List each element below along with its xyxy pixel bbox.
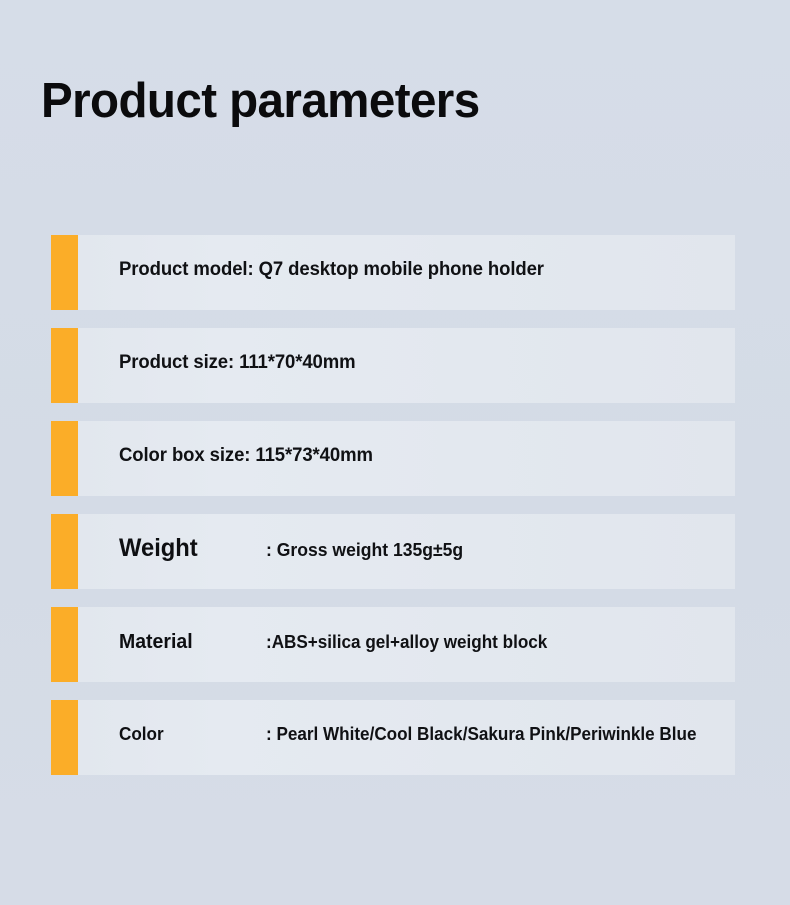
spec-value-material: :ABS+silica gel+alloy weight block <box>266 632 547 653</box>
row-accent-bar <box>51 514 78 589</box>
row-body: Product size: 111*70*40mm <box>78 328 735 403</box>
spec-text-product-model: Product model: Q7 desktop mobile phone h… <box>119 258 544 281</box>
spec-value-color: : Pearl White/Cool Black/Sakura Pink/Per… <box>266 724 696 745</box>
spec-row-material: Material :ABS+silica gel+alloy weight bl… <box>0 607 790 682</box>
spec-row-product-size: Product size: 111*70*40mm <box>0 328 790 403</box>
spec-row-color: Color : Pearl White/Cool Black/Sakura Pi… <box>0 700 790 775</box>
spec-label-color: Color <box>119 724 259 745</box>
row-accent-bar <box>51 328 78 403</box>
row-body: Weight : Gross weight 135g±5g <box>78 514 735 589</box>
spec-row-product-model: Product model: Q7 desktop mobile phone h… <box>0 235 790 310</box>
spec-list: Product model: Q7 desktop mobile phone h… <box>0 235 790 793</box>
row-accent-bar <box>51 607 78 682</box>
row-body: Material :ABS+silica gel+alloy weight bl… <box>78 607 735 682</box>
spec-text-color-box-size: Color box size: 115*73*40mm <box>119 444 373 467</box>
row-accent-bar <box>51 700 78 775</box>
spec-text-product-size: Product size: 111*70*40mm <box>119 351 356 374</box>
row-body: Product model: Q7 desktop mobile phone h… <box>78 235 735 310</box>
row-body: Color box size: 115*73*40mm <box>78 421 735 496</box>
row-accent-bar <box>51 235 78 310</box>
row-body: Color : Pearl White/Cool Black/Sakura Pi… <box>78 700 735 775</box>
spec-row-weight: Weight : Gross weight 135g±5g <box>0 514 790 589</box>
spec-row-color-box-size: Color box size: 115*73*40mm <box>0 421 790 496</box>
spec-value-weight: : Gross weight 135g±5g <box>266 539 463 561</box>
page-title: Product parameters <box>41 72 480 130</box>
product-parameters-page: Product parameters Product model: Q7 des… <box>0 0 790 905</box>
row-accent-bar <box>51 421 78 496</box>
spec-label-weight: Weight <box>119 534 259 563</box>
spec-label-material: Material <box>119 630 259 654</box>
